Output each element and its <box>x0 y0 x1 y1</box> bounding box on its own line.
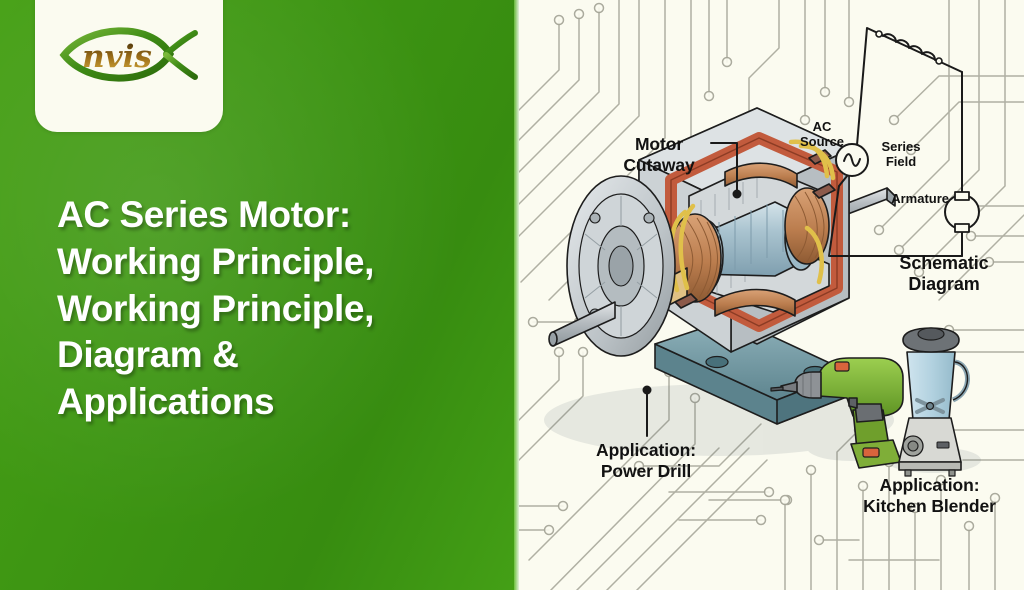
blog-banner: nvis AC Series Motor: Working Principle,… <box>0 0 1024 590</box>
schematic-label-ac-source: AC Source <box>791 120 853 150</box>
annotation-motor-cutaway: Motor Cutaway <box>599 134 719 175</box>
annotation-schematic-caption: Schematic Diagram <box>874 253 1014 295</box>
schematic-label-armature: Armature <box>877 192 949 207</box>
annotation-power-drill: Application: Power Drill <box>572 440 720 481</box>
kitchen-blender-illustration <box>899 328 968 476</box>
annotation-kitchen-blender: Application: Kitchen Blender <box>837 475 1022 516</box>
brand-logo-card[interactable]: nvis <box>35 0 223 132</box>
illustration-panel: Motor Cutaway Application: Power Drill S… <box>519 0 1024 590</box>
schematic-label-series-field: Series Field <box>871 140 931 170</box>
armature-symbol <box>945 192 979 232</box>
nvis-fish-leaf-logo: nvis <box>54 8 204 103</box>
page-title: AC Series Motor: Working Principle, Work… <box>57 192 507 426</box>
logo-wordmark: nvis <box>82 39 152 75</box>
left-title-panel: nvis AC Series Motor: Working Principle,… <box>0 0 519 590</box>
